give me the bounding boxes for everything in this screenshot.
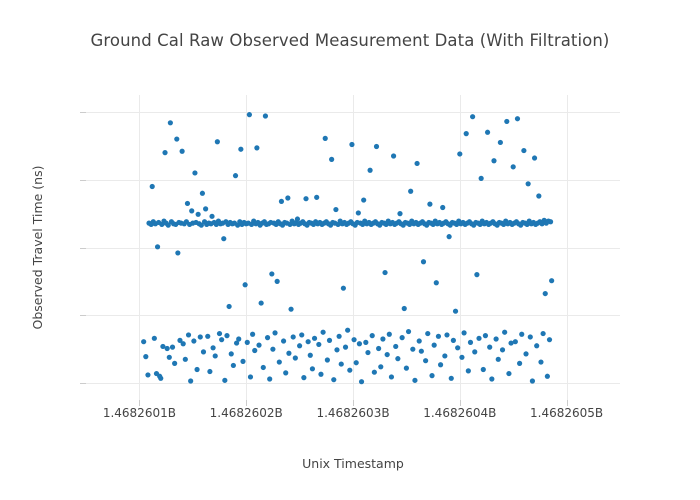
scatter-point xyxy=(301,375,306,380)
scatter-point xyxy=(511,164,516,169)
scatter-point xyxy=(337,334,342,339)
scatter-point xyxy=(205,334,210,339)
scatter-point xyxy=(308,353,313,358)
scatter-point xyxy=(547,337,552,342)
scatter-point xyxy=(345,328,350,333)
scatter-point xyxy=(385,352,390,357)
scatter-point xyxy=(217,331,222,336)
scatter-point xyxy=(297,343,302,348)
scatter-point xyxy=(468,340,473,345)
x-tick-label: 1.4682602B xyxy=(210,406,283,420)
scatter-point xyxy=(434,280,439,285)
scatter-point xyxy=(521,148,526,153)
scatter-point xyxy=(325,357,330,362)
scatter-point xyxy=(213,353,218,358)
scatter-point xyxy=(440,205,445,210)
scatter-point xyxy=(303,196,308,201)
scatter-point xyxy=(198,334,203,339)
scatter-point xyxy=(532,155,537,160)
scatter-point xyxy=(250,332,255,337)
scatter-point xyxy=(451,338,456,343)
scatter-point xyxy=(180,149,185,154)
scatter-point xyxy=(283,370,288,375)
scatter-point xyxy=(402,306,407,311)
scatter-point xyxy=(279,199,284,204)
scatter-point xyxy=(357,341,362,346)
scatter-point xyxy=(541,331,546,336)
scatter-point xyxy=(472,349,477,354)
scatter-point xyxy=(425,331,430,336)
scatter-point xyxy=(263,113,268,118)
scatter-point xyxy=(331,377,336,382)
scatter-point xyxy=(243,282,248,287)
scatter-point xyxy=(329,157,334,162)
scatter-point xyxy=(145,372,150,377)
scatter-point xyxy=(201,349,206,354)
scatter-point xyxy=(500,347,505,352)
scatter-point xyxy=(277,359,282,364)
scatter-point xyxy=(233,173,238,178)
scatter-point xyxy=(444,332,449,337)
scatter-point xyxy=(423,358,428,363)
scatter-point xyxy=(141,339,146,344)
scatter-point xyxy=(494,336,499,341)
scatter-point xyxy=(470,114,475,119)
scatter-point xyxy=(543,291,548,296)
scatter-point xyxy=(272,330,277,335)
scatter-point xyxy=(498,140,503,145)
y-tick-mark xyxy=(80,248,86,249)
scatter-point xyxy=(548,219,553,224)
scatter-point xyxy=(526,181,531,186)
scatter-series xyxy=(141,112,554,384)
scatter-point xyxy=(449,376,454,381)
scatter-point xyxy=(291,334,296,339)
scatter-point xyxy=(323,136,328,141)
scatter-point xyxy=(168,120,173,125)
scatter-point xyxy=(363,340,368,345)
x-tick-mark xyxy=(353,400,354,406)
y-tick-mark xyxy=(80,383,86,384)
scatter-point xyxy=(256,343,261,348)
scatter-point xyxy=(466,368,471,373)
scatter-point xyxy=(221,236,226,241)
x-tick-mark xyxy=(460,400,461,406)
scatter-point xyxy=(185,201,190,206)
x-axis-title: Unix Timestamp xyxy=(86,456,620,471)
scatter-point xyxy=(487,345,492,350)
scatter-point xyxy=(175,250,180,255)
scatter-point xyxy=(247,112,252,117)
scatter-point xyxy=(152,336,157,341)
x-tick-label: 1.4682604B xyxy=(423,406,496,420)
scatter-point xyxy=(281,338,286,343)
scatter-point xyxy=(248,374,253,379)
scatter-point xyxy=(380,336,385,341)
scatter-point xyxy=(442,353,447,358)
scatter-point xyxy=(270,347,275,352)
scatter-point xyxy=(222,378,227,383)
scatter-point xyxy=(224,333,229,338)
scatter-point xyxy=(293,355,298,360)
scatter-point xyxy=(203,206,208,211)
scatter-point xyxy=(200,191,205,196)
scatter-point xyxy=(429,373,434,378)
scatter-point xyxy=(417,338,422,343)
scatter-point xyxy=(395,356,400,361)
scatter-point xyxy=(194,367,199,372)
scatter-point xyxy=(261,365,266,370)
scatter-point xyxy=(167,355,172,360)
scatter-point xyxy=(447,234,452,239)
scatter-point xyxy=(382,270,387,275)
scatter-point xyxy=(341,286,346,291)
scatter-point xyxy=(513,339,518,344)
scatter-point xyxy=(408,189,413,194)
scatter-point xyxy=(207,369,212,374)
scatter-point xyxy=(254,145,259,150)
scatter-point xyxy=(504,119,509,124)
scatter-point xyxy=(349,142,354,147)
scatter-point xyxy=(354,360,359,365)
scatter-point xyxy=(215,139,220,144)
scatter-point xyxy=(275,279,280,284)
scatter-point xyxy=(528,334,533,339)
scatter-point xyxy=(530,378,535,383)
y-tick-mark xyxy=(80,180,86,181)
scatter-point xyxy=(150,184,155,189)
scatter-point xyxy=(286,351,291,356)
scatter-point xyxy=(457,151,462,156)
scatter-point xyxy=(143,354,148,359)
scatter-point xyxy=(227,304,232,309)
scatter-point xyxy=(183,357,188,362)
scatter-point xyxy=(306,339,311,344)
scatter-point xyxy=(269,271,274,276)
scatter-point xyxy=(461,330,466,335)
scatter-point xyxy=(536,193,541,198)
scatter-point xyxy=(419,349,424,354)
scatter-point xyxy=(549,278,554,283)
scatter-point xyxy=(361,197,366,202)
x-tick-mark xyxy=(139,400,140,406)
scatter-point xyxy=(192,170,197,175)
scatter-point xyxy=(245,340,250,345)
scatter-point xyxy=(372,370,377,375)
scatter-point xyxy=(196,212,201,217)
scatter-point xyxy=(158,376,163,381)
scatter-point xyxy=(310,366,315,371)
scatter-point xyxy=(188,378,193,383)
y-axis-title: Observed Travel Time (ns) xyxy=(30,95,45,400)
scatter-point xyxy=(174,136,179,141)
scatter-point xyxy=(387,332,392,337)
scatter-point xyxy=(474,272,479,277)
y-tick-mark xyxy=(80,112,86,113)
scatter-point xyxy=(438,362,443,367)
scatter-point xyxy=(343,345,348,350)
scatter-point xyxy=(496,357,501,362)
scatter-point xyxy=(288,307,293,312)
scatter-point xyxy=(489,376,494,381)
scatter-point xyxy=(189,208,194,213)
scatter-point xyxy=(436,334,441,339)
scatter-point xyxy=(389,374,394,379)
scatter-point xyxy=(356,210,361,215)
scatter-point xyxy=(455,345,460,350)
scatter-point xyxy=(374,144,379,149)
scatter-point xyxy=(538,359,543,364)
scatter-point xyxy=(299,332,304,337)
scatter-point xyxy=(397,211,402,216)
scatter-point xyxy=(370,333,375,338)
scatter-points-layer xyxy=(86,95,620,400)
scatter-point xyxy=(365,350,370,355)
scatter-point xyxy=(219,337,224,342)
scatter-point xyxy=(406,329,411,334)
scatter-point xyxy=(400,335,405,340)
scatter-point xyxy=(321,330,326,335)
scatter-point xyxy=(545,374,550,379)
y-tick-mark xyxy=(80,315,86,316)
scatter-point xyxy=(376,346,381,351)
scatter-point xyxy=(181,341,186,346)
scatter-point xyxy=(432,343,437,348)
scatter-point xyxy=(359,379,364,384)
scatter-point xyxy=(267,376,272,381)
plot-area xyxy=(86,95,620,400)
scatter-point xyxy=(252,348,257,353)
scatter-point xyxy=(523,351,528,356)
scatter-point xyxy=(459,355,464,360)
scatter-point xyxy=(238,147,243,152)
scatter-point xyxy=(265,335,270,340)
scatter-point xyxy=(240,359,245,364)
scatter-point xyxy=(191,338,196,343)
scatter-point xyxy=(285,195,290,200)
scatter-point xyxy=(236,336,241,341)
scatter-point xyxy=(172,361,177,366)
scatter-point xyxy=(427,202,432,207)
scatter-point xyxy=(404,366,409,371)
scatter-point xyxy=(502,330,507,335)
scatter-point xyxy=(410,347,415,352)
scatter-point xyxy=(339,361,344,366)
x-tick-label: 1.4682601B xyxy=(103,406,176,420)
scatter-point xyxy=(210,345,215,350)
scatter-point xyxy=(259,300,264,305)
chart-title: Ground Cal Raw Observed Measurement Data… xyxy=(0,31,700,50)
scatter-point xyxy=(453,309,458,314)
scatter-point xyxy=(318,372,323,377)
scatter-point xyxy=(155,244,160,249)
scatter-point xyxy=(327,338,332,343)
scatter-point xyxy=(351,337,356,342)
scatter-point xyxy=(314,195,319,200)
scatter-point xyxy=(421,259,426,264)
scatter-point xyxy=(378,364,383,369)
scatter-point xyxy=(316,342,321,347)
scatter-point xyxy=(231,363,236,368)
scatter-point xyxy=(295,216,300,221)
chart-figure: Ground Cal Raw Observed Measurement Data… xyxy=(0,0,700,500)
scatter-point xyxy=(464,131,469,136)
scatter-point xyxy=(481,367,486,372)
scatter-point xyxy=(229,351,234,356)
x-tick-mark xyxy=(246,400,247,406)
scatter-point xyxy=(334,347,339,352)
scatter-point xyxy=(367,168,372,173)
x-tick-label: 1.4682603B xyxy=(316,406,389,420)
scatter-point xyxy=(479,176,484,181)
scatter-point xyxy=(517,361,522,366)
scatter-point xyxy=(391,153,396,158)
scatter-point xyxy=(393,344,398,349)
scatter-point xyxy=(209,214,214,219)
x-tick-mark xyxy=(567,400,568,406)
scatter-point xyxy=(170,345,175,350)
scatter-point xyxy=(476,336,481,341)
scatter-point xyxy=(186,332,191,337)
scatter-point xyxy=(165,346,170,351)
scatter-point xyxy=(162,150,167,155)
scatter-point xyxy=(485,130,490,135)
scatter-point xyxy=(483,333,488,338)
scatter-point xyxy=(491,158,496,163)
scatter-point xyxy=(414,161,419,166)
scatter-point xyxy=(506,371,511,376)
scatter-point xyxy=(312,336,317,341)
scatter-point xyxy=(333,207,338,212)
scatter-point xyxy=(412,378,417,383)
scatter-point xyxy=(515,116,520,121)
scatter-point xyxy=(347,368,352,373)
scatter-point xyxy=(519,332,524,337)
x-tick-label: 1.4682605B xyxy=(530,406,603,420)
scatter-point xyxy=(534,343,539,348)
